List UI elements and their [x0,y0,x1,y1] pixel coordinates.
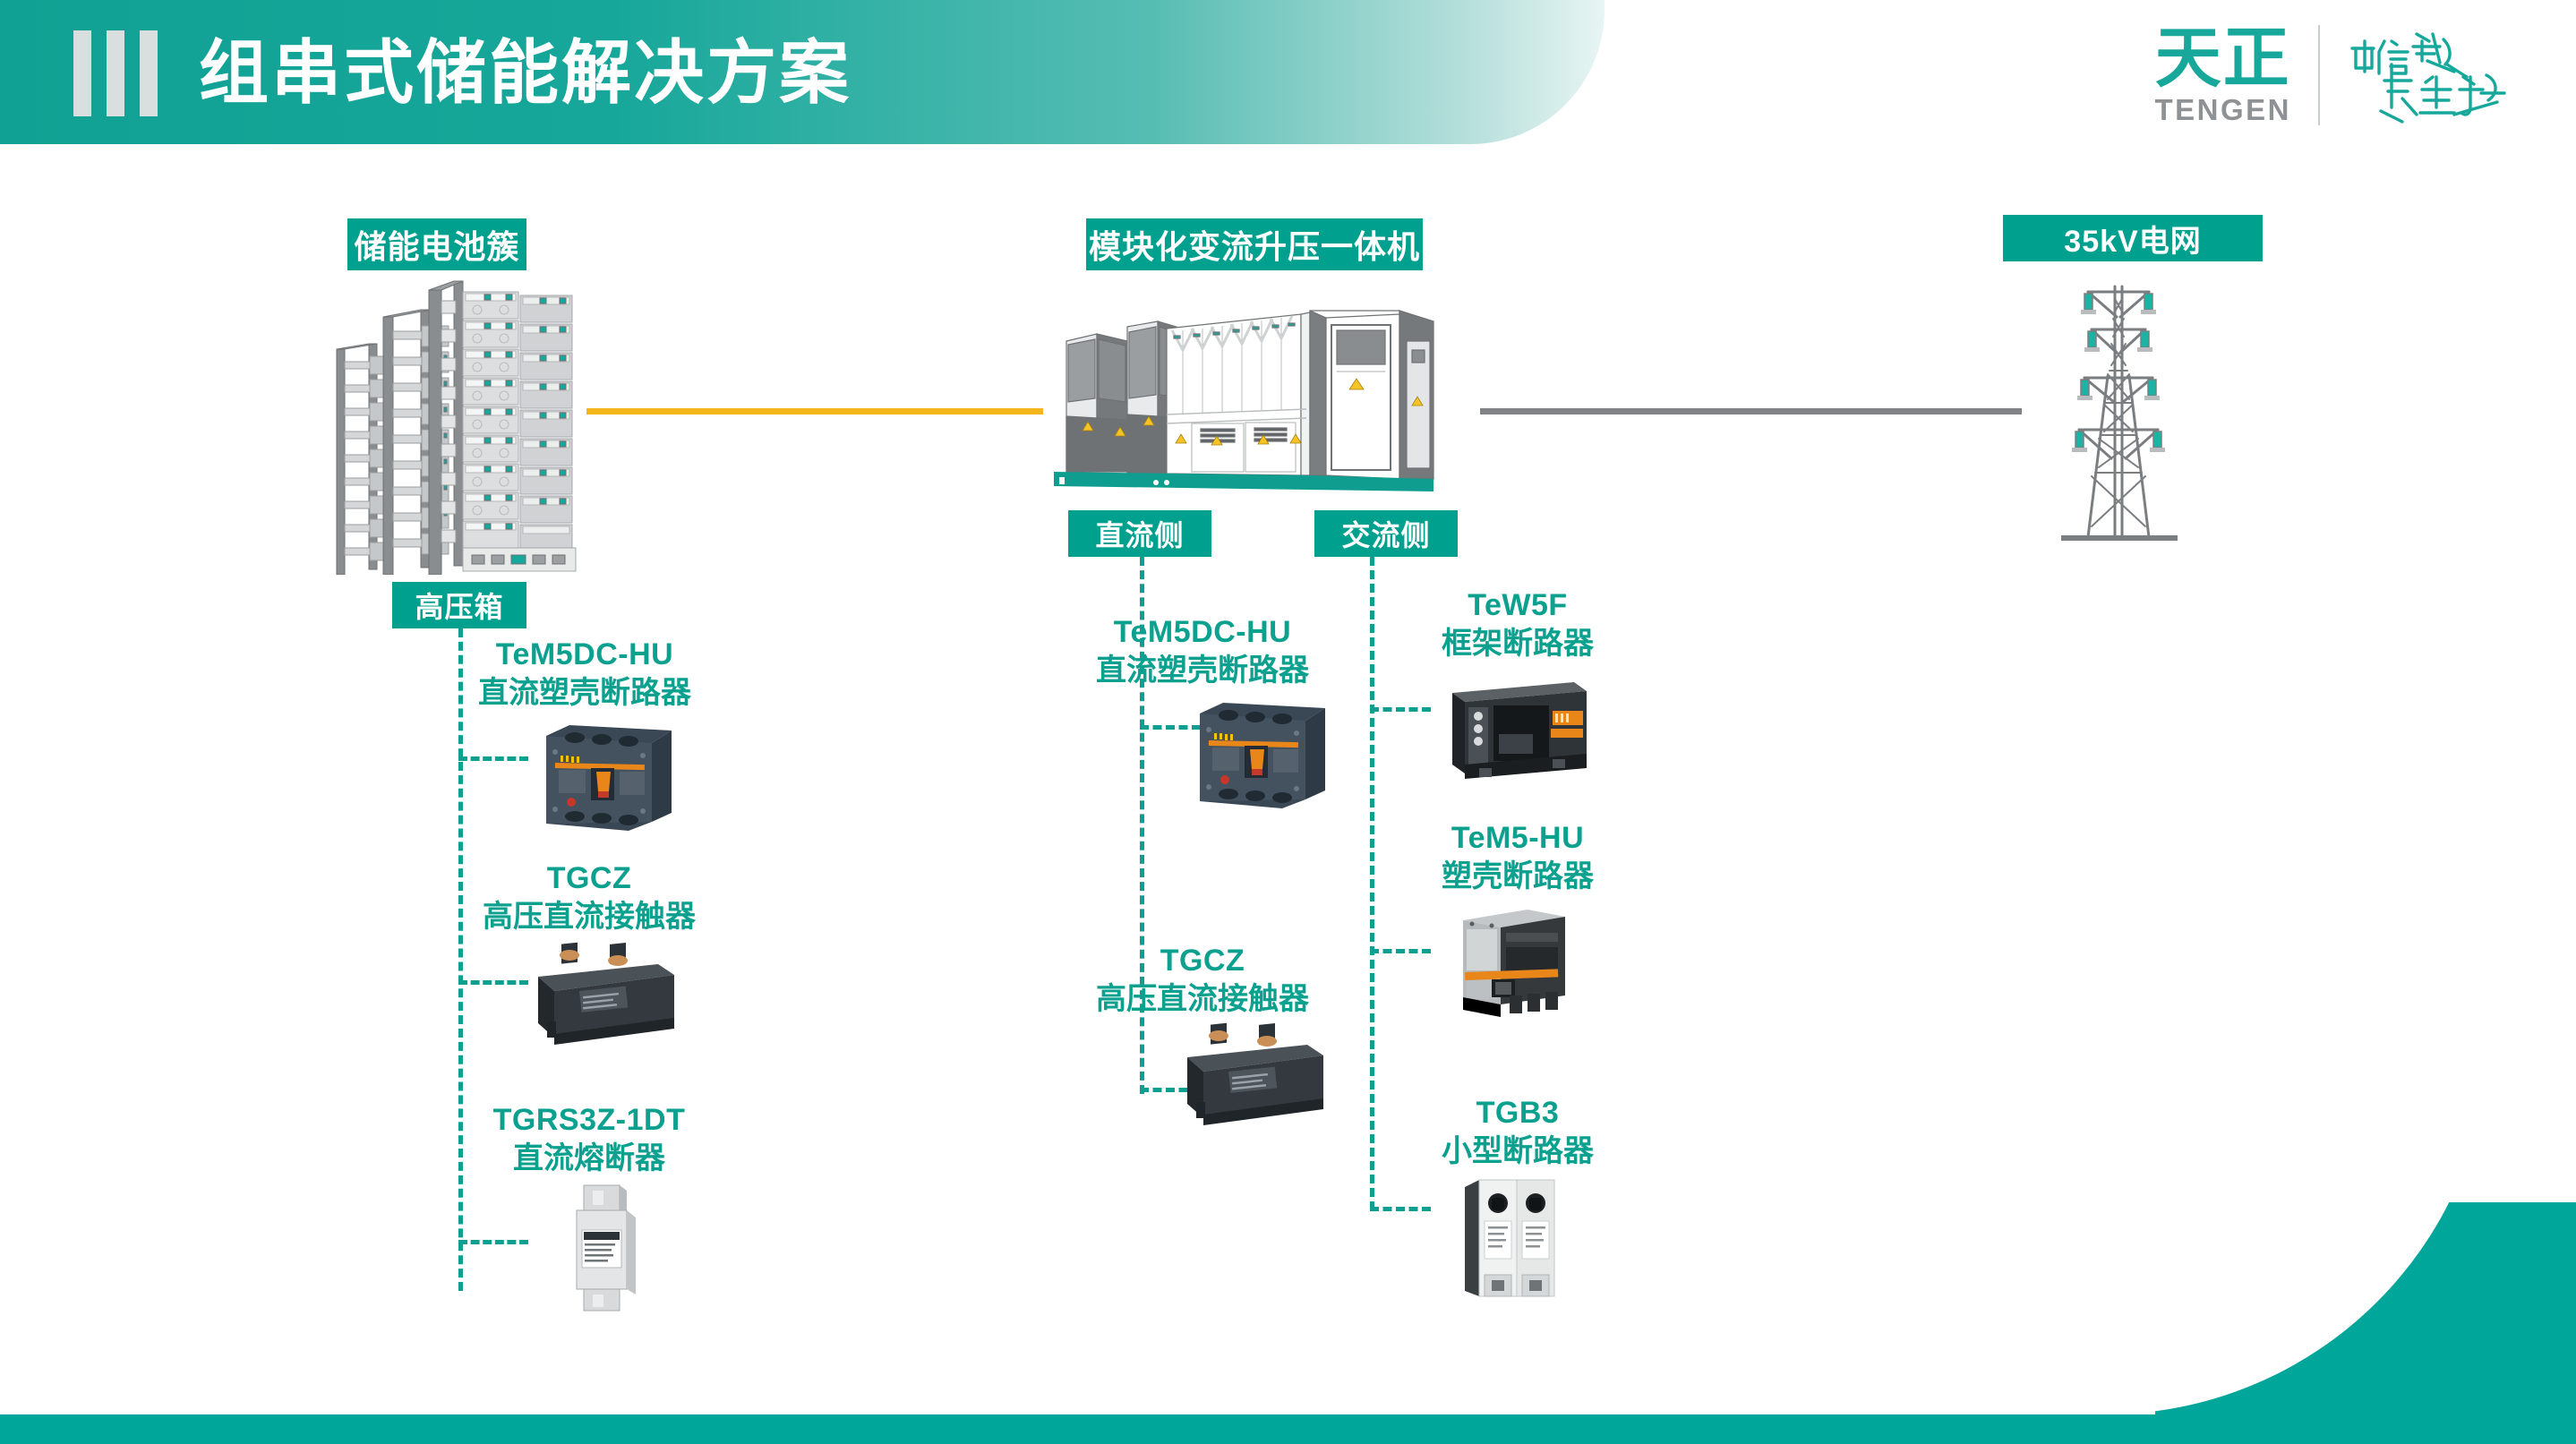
product-label-dc-2: TGCZ 高压直流接触器 [1014,942,1391,1019]
product-code: TGCZ [1014,942,1391,980]
product-name: 高压直流接触器 [1014,980,1391,1019]
page-header: 组串式储能解决方案 [0,0,1605,144]
section-label-converter: 模块化变流升压一体机 [1086,218,1423,270]
hv-box-branch-3 [458,1240,528,1244]
molded-case-circuit-breaker-icon [1182,694,1343,810]
logo-brand-en: TENGEN [2154,94,2291,126]
ac-side-branch-2 [1370,949,1431,953]
logo-mark: 天正 TENGEN [2154,24,2291,126]
logo-brand-cn: 天正 [2155,24,2291,92]
page-title: 组串式储能解决方案 [199,20,852,125]
section-label-grid: 35kV电网 [2003,215,2263,261]
product-code: TeM5-HU [1383,819,1652,858]
footer-corner-cutout [1720,645,2490,1414]
section-label-ac-side: 交流侧 [1314,510,1458,557]
product-label-ac-3: TGB3 小型断路器 [1383,1094,1652,1171]
ac-side-branch-3 [1370,1207,1431,1211]
ac-side-trunk-connector [1370,557,1374,1210]
product-name: 直流熔断器 [459,1140,719,1178]
product-label-left-2: TGCZ 高压直流接触器 [464,859,715,936]
product-code: TGCZ [464,859,715,898]
product-code: TGB3 [1383,1094,1652,1132]
molded-case-circuit-breaker-icon [1442,895,1585,1021]
product-label-left-3: TGRS3Z-1DT 直流熔断器 [459,1101,719,1178]
miniature-circuit-breaker-icon [1449,1164,1583,1307]
hv-box-trunk-connector [458,628,463,1291]
slogan-handwriting-icon [2347,21,2526,129]
dc-contactor-icon [524,936,685,1052]
dc-bus-line [586,408,1043,414]
product-code: TGRS3Z-1DT [459,1101,719,1140]
logo-divider [2318,25,2320,125]
battery-rack-cluster-icon [329,279,598,575]
product-label-left-1: TeM5DC-HU 直流塑壳断路器 [459,636,710,713]
section-label-dc-side: 直流侧 [1068,510,1211,557]
section-label-hv-box: 高压箱 [392,582,526,628]
molded-case-circuit-breaker-icon [528,716,689,833]
dc-fuse-icon [537,1180,672,1314]
slide-canvas: 组串式储能解决方案 天正 TENGEN [0,0,2576,1444]
product-code: TeM5DC-HU [1014,613,1391,652]
brand-logo: 天正 TENGEN [2078,13,2526,138]
ac-side-branch-1 [1370,707,1431,712]
three-bars-icon [73,30,158,116]
section-label-battery: 储能电池簇 [347,218,526,270]
hv-box-branch-2 [458,980,528,985]
product-name: 直流塑壳断路器 [1014,652,1391,690]
product-code: TeM5DC-HU [459,636,710,674]
product-name: 高压直流接触器 [464,898,715,936]
hv-box-branch-1 [458,756,528,761]
product-name: 框架断路器 [1383,625,1652,663]
product-name: 塑壳断路器 [1383,858,1652,896]
dc-contactor-icon [1173,1016,1334,1132]
modular-converter-station-icon [1041,309,1444,492]
product-label-ac-2: TeM5-HU 塑壳断路器 [1383,819,1652,896]
transmission-tower-icon [2002,269,2235,555]
product-label-ac-1: TeW5F 框架断路器 [1383,586,1652,663]
ac-bus-line [1480,408,2022,414]
air-circuit-breaker-icon [1440,671,1601,783]
product-code: TeW5F [1383,586,1652,625]
product-name: 直流塑壳断路器 [459,674,710,713]
product-label-dc-1: TeM5DC-HU 直流塑壳断路器 [1014,613,1391,690]
